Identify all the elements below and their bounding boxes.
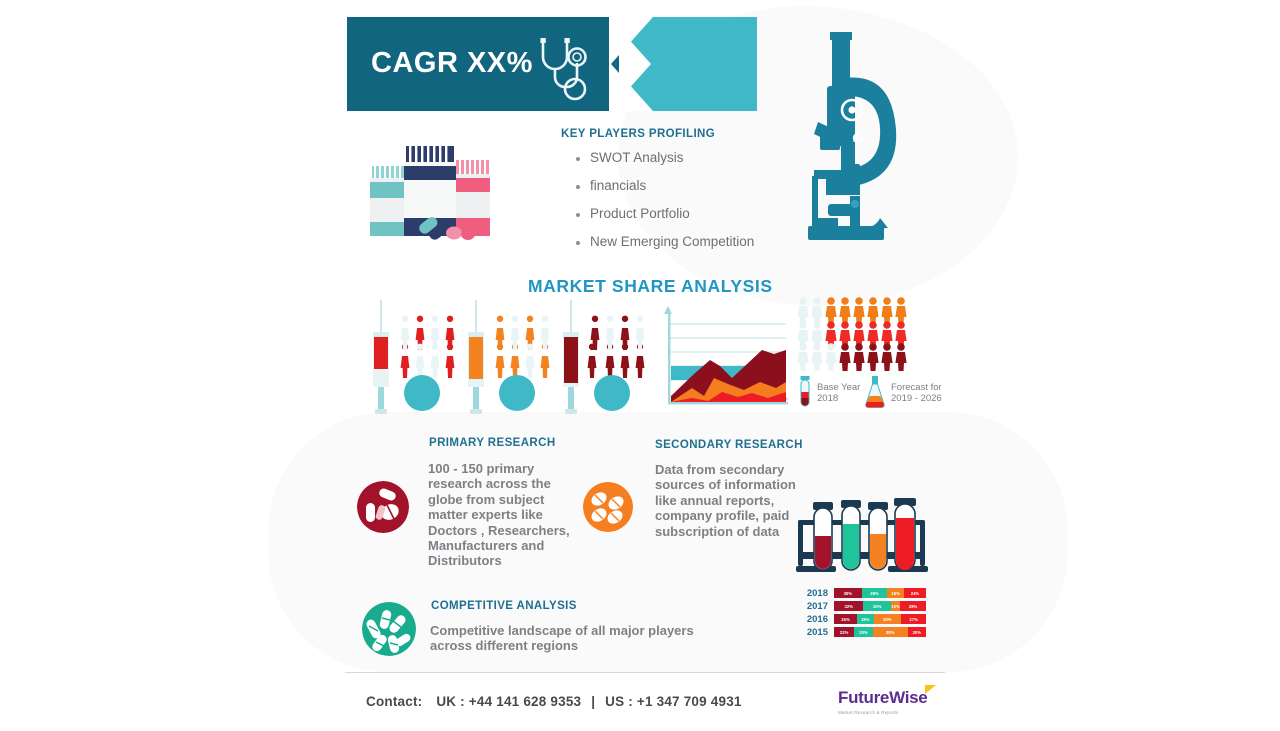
contact-info: Contact: UK : +44 141 628 9353 | US : +1… (366, 694, 742, 709)
table-row: 2017 32% 30% 10% 28% (800, 601, 926, 611)
competitive-analysis-title: COMPETITIVE ANALYSIS (431, 600, 577, 612)
bar-segment: 24% (904, 588, 926, 598)
contact-separator: | (591, 694, 595, 709)
legend-forecast-text: Forecast for 2019 - 2026 (891, 382, 942, 405)
bar-segment: 20% (854, 627, 872, 637)
bar-segment: 30% (874, 614, 902, 624)
area-chart-icon (652, 302, 794, 414)
legend-item-forecast: Forecast for 2019 - 2026 (864, 376, 942, 410)
bar-track: 30% 28% 18% 24% (834, 588, 926, 598)
bar-segment: 18% (857, 614, 874, 624)
legend-line-2: 2018 (817, 393, 860, 405)
logo-text-wise: Wise (889, 688, 927, 707)
table-row: 2016 25% 18% 30% 27% (800, 614, 926, 624)
legend-base-year-text: Base Year 2018 (817, 382, 860, 405)
futurewise-logo[interactable]: FutureWise Market Research & Reports (838, 688, 927, 715)
people-pictogram-icon (798, 297, 918, 371)
table-row: 2018 30% 28% 18% 24% (800, 588, 926, 598)
bar-segment: 38% (873, 627, 908, 637)
bar-track: 32% 30% 10% 28% (834, 601, 926, 611)
flask-icon (864, 376, 886, 410)
syringe-chart-icon (356, 300, 646, 418)
legend-item-base-year: Base Year 2018 (798, 376, 860, 410)
microscope-icon (806, 18, 926, 258)
list-item: financials (572, 178, 812, 193)
legend-line-2: 2019 - 2026 (891, 393, 942, 405)
list-item: SWOT Analysis (572, 150, 812, 165)
infographic-canvas: CAGR XX% (0, 0, 1280, 731)
secondary-research-title: SECONDARY RESEARCH (655, 439, 803, 451)
legend-line-1: Base Year (817, 382, 860, 394)
cagr-label: CAGR XX% (371, 47, 533, 80)
list-item: New Emerging Competition (572, 234, 812, 249)
bar-segment: 10% (891, 601, 900, 611)
cagr-banner: CAGR XX% (347, 17, 757, 111)
key-players-title: KEY PLAYERS PROFILING (561, 128, 715, 140)
legend-line-1: Forecast for (891, 382, 942, 394)
bar-segment: 28% (900, 601, 926, 611)
competitive-analysis-body: Competitive landscape of all major playe… (430, 623, 715, 654)
secondary-research-body: Data from secondary sources of informati… (655, 462, 805, 539)
test-tube-rack-icon (796, 492, 928, 580)
key-players-list: SWOT Analysis financials Product Portfol… (572, 150, 812, 262)
bar-track: 22% 20% 38% 20% (834, 627, 926, 637)
logo-flag-icon (925, 685, 936, 694)
bar-year-label: 2016 (800, 614, 828, 625)
logo-tagline: Market Research & Reports (838, 710, 927, 715)
bar-segment: 27% (901, 614, 926, 624)
bar-segment: 18% (887, 588, 904, 598)
bar-track: 25% 18% 30% 27% (834, 614, 926, 624)
contact-uk: UK : +44 141 628 9353 (436, 694, 581, 709)
market-share-title: MARKET SHARE ANALYSIS (528, 276, 773, 297)
contact-us: US : +1 347 709 4931 (605, 694, 741, 709)
bar-segment: 30% (863, 601, 891, 611)
logo-text-future: Future (838, 688, 889, 707)
primary-research-body: 100 - 150 primary research across the gl… (428, 461, 586, 569)
test-tube-icon (798, 376, 812, 410)
bar-segment: 28% (862, 588, 888, 598)
bar-segment: 20% (908, 627, 926, 637)
pills-circle-icon (583, 482, 633, 532)
bar-segment: 30% (834, 588, 862, 598)
table-row: 2015 22% 20% 38% 20% (800, 627, 926, 637)
year-share-bar-chart: 2018 30% 28% 18% 24% 2017 32% 30% 10% 28… (800, 588, 926, 640)
bar-segment: 32% (834, 601, 863, 611)
contact-label: Contact: (366, 694, 422, 709)
capsules-circle-icon (362, 602, 416, 656)
bar-segment: 22% (834, 627, 854, 637)
pills-circle-icon (357, 481, 409, 533)
bar-year-label: 2015 (800, 627, 828, 638)
bar-year-label: 2017 (800, 601, 828, 612)
pill-bottles-icon (366, 138, 496, 250)
bar-segment: 25% (834, 614, 857, 624)
bar-year-label: 2018 (800, 588, 828, 599)
footer-divider (345, 672, 945, 673)
stethoscope-icon (535, 37, 597, 103)
primary-research-title: PRIMARY RESEARCH (429, 437, 556, 449)
list-item: Product Portfolio (572, 206, 812, 221)
